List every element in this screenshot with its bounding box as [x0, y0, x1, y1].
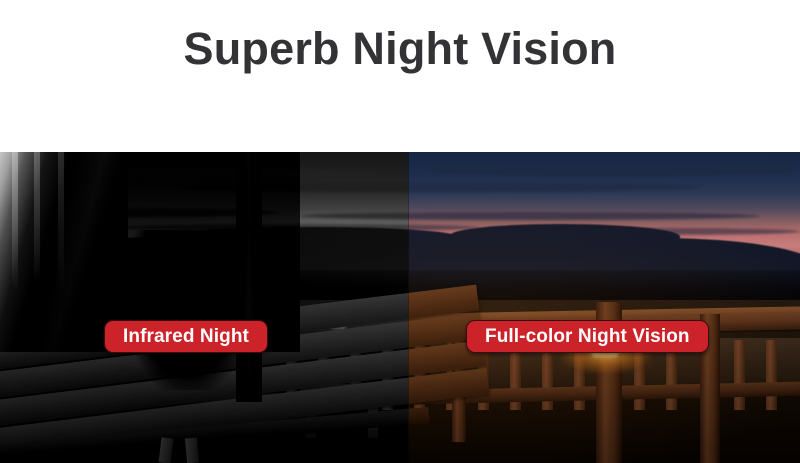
full-color-night-vision-badge-label: Full-color Night Vision — [485, 326, 690, 348]
horizon-cloud-mass — [408, 238, 800, 272]
baluster — [734, 340, 745, 410]
page-title: Superb Night Vision — [184, 22, 617, 75]
baluster — [766, 340, 777, 410]
full-color-night-vision-badge: Full-color Night Vision — [466, 320, 709, 353]
table-leg — [185, 438, 199, 463]
night-vision-comparison-image: Infrared Night Full-color Night Vision — [0, 152, 800, 463]
curtain-fold — [58, 152, 64, 352]
full-color-night-vision-half — [408, 152, 800, 463]
scene-infrared — [0, 152, 408, 463]
comparison-seam — [408, 152, 409, 463]
infrared-night-badge-label: Infrared Night — [123, 326, 249, 348]
headline-band: Superb Night Vision — [0, 0, 800, 152]
curtain-fold — [34, 152, 40, 352]
scene-full-color — [408, 152, 800, 463]
infrared-night-half — [0, 152, 408, 463]
infrared-night-badge: Infrared Night — [104, 320, 268, 353]
cloud-band — [420, 162, 800, 176]
night-vision-promo-page: Superb Night Vision — [0, 0, 800, 463]
curtain-fold — [12, 152, 18, 352]
pillar — [236, 152, 262, 402]
